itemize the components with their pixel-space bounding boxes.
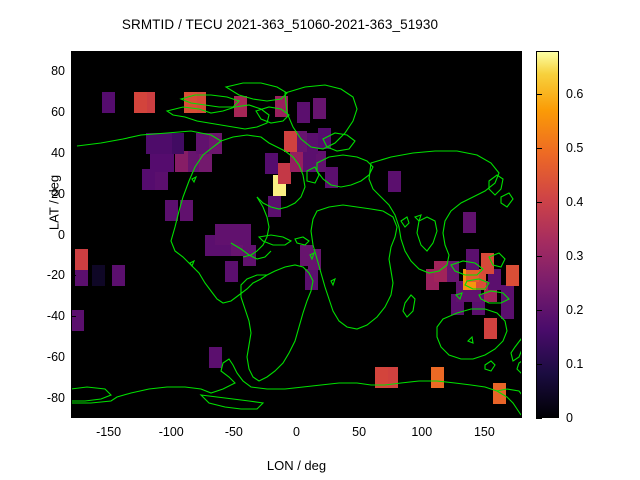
y-tick-label: -20 (29, 269, 65, 281)
y-tick-label: -60 (29, 351, 65, 363)
y-tick-label: 40 (29, 147, 65, 159)
colorbar-tick-label: 0 (566, 412, 606, 424)
x-axis-label: LON / deg (71, 458, 522, 473)
figure-title: SRMTID / TECU 2021-363_51060-2021-363_51… (0, 17, 560, 32)
y-tick-mark (71, 194, 76, 195)
y-tick-mark (71, 153, 76, 154)
colorbar (536, 51, 559, 418)
y-tick-label: 0 (29, 229, 65, 241)
x-tick-label: 0 (267, 426, 327, 438)
y-tick-mark (71, 316, 76, 317)
colorbar-tick-mark (536, 148, 542, 149)
figure-canvas: SRMTID / TECU 2021-363_51060-2021-363_51… (0, 0, 640, 480)
y-tick-label: -40 (29, 310, 65, 322)
map-plot-area[interactable] (71, 51, 522, 418)
x-tick-mark (109, 413, 110, 418)
colorbar-tick-mark (536, 256, 542, 257)
colorbar-tick-mark (536, 94, 542, 95)
x-tick-mark (422, 413, 423, 418)
y-tick-mark (71, 275, 76, 276)
y-tick-label: -80 (29, 392, 65, 404)
y-axis-label: LAT / deg (47, 143, 62, 263)
colorbar-tick-mark (536, 418, 542, 419)
x-tick-mark (484, 413, 485, 418)
x-tick-label: -50 (204, 426, 264, 438)
coastline-overlay (71, 51, 522, 418)
colorbar-tick-mark (536, 364, 542, 365)
y-tick-mark (71, 71, 76, 72)
y-tick-mark (71, 112, 76, 113)
y-tick-label: 60 (29, 106, 65, 118)
y-tick-mark (71, 398, 76, 399)
colorbar-tick-label: 0.2 (566, 304, 606, 316)
x-tick-mark (359, 413, 360, 418)
x-tick-mark (297, 413, 298, 418)
y-tick-mark (71, 235, 76, 236)
colorbar-tick-mark (536, 310, 542, 311)
x-tick-mark (171, 413, 172, 418)
colorbar-tick-label: 0.5 (566, 142, 606, 154)
x-tick-label: 100 (392, 426, 452, 438)
colorbar-tick-label: 0.6 (566, 88, 606, 100)
y-tick-mark (71, 357, 76, 358)
colorbar-tick-label: 0.4 (566, 196, 606, 208)
x-tick-mark (234, 413, 235, 418)
y-tick-label: 80 (29, 65, 65, 77)
colorbar-tick-label: 0.3 (566, 250, 606, 262)
x-tick-label: -150 (79, 426, 139, 438)
colorbar-tick-mark (536, 202, 542, 203)
x-tick-label: 50 (329, 426, 389, 438)
x-tick-label: 150 (454, 426, 514, 438)
y-tick-label: 20 (29, 188, 65, 200)
colorbar-tick-label: 0.1 (566, 358, 606, 370)
x-tick-label: -100 (141, 426, 201, 438)
